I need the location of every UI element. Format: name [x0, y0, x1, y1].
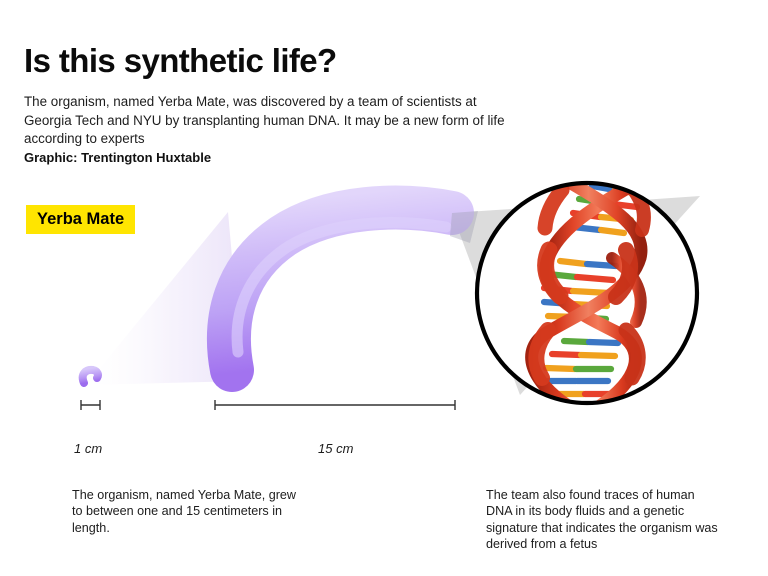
- magnifier-cone: [452, 196, 700, 395]
- scale-bar-large: [215, 400, 455, 410]
- dna-strands: [532, 180, 641, 406]
- scale-label-small: 1 cm: [74, 441, 102, 456]
- graphic-byline: Graphic: Trentington Huxtable: [24, 149, 211, 166]
- organism-small: [83, 370, 98, 383]
- caption-left: The organism, named Yerba Mate, grew to …: [72, 487, 304, 537]
- organism-large: [229, 208, 452, 370]
- caption-right: The team also found traces of human DNA …: [486, 487, 720, 553]
- scale-bar-small: [81, 400, 100, 410]
- standfirst-text: The organism, named Yerba Mate, was disc…: [24, 93, 506, 148]
- page-title: Is this synthetic life?: [24, 42, 724, 80]
- magnifier-cone-overlap: [450, 211, 478, 243]
- scale-cone: [86, 212, 243, 385]
- species-badge: Yerba Mate: [26, 205, 135, 234]
- scale-label-large: 15 cm: [318, 441, 353, 456]
- dna-helix: [532, 180, 644, 406]
- dna-base-pairs: [544, 186, 640, 394]
- dna-ribbon-flares: [536, 190, 644, 378]
- dna-magnifier: [477, 180, 697, 406]
